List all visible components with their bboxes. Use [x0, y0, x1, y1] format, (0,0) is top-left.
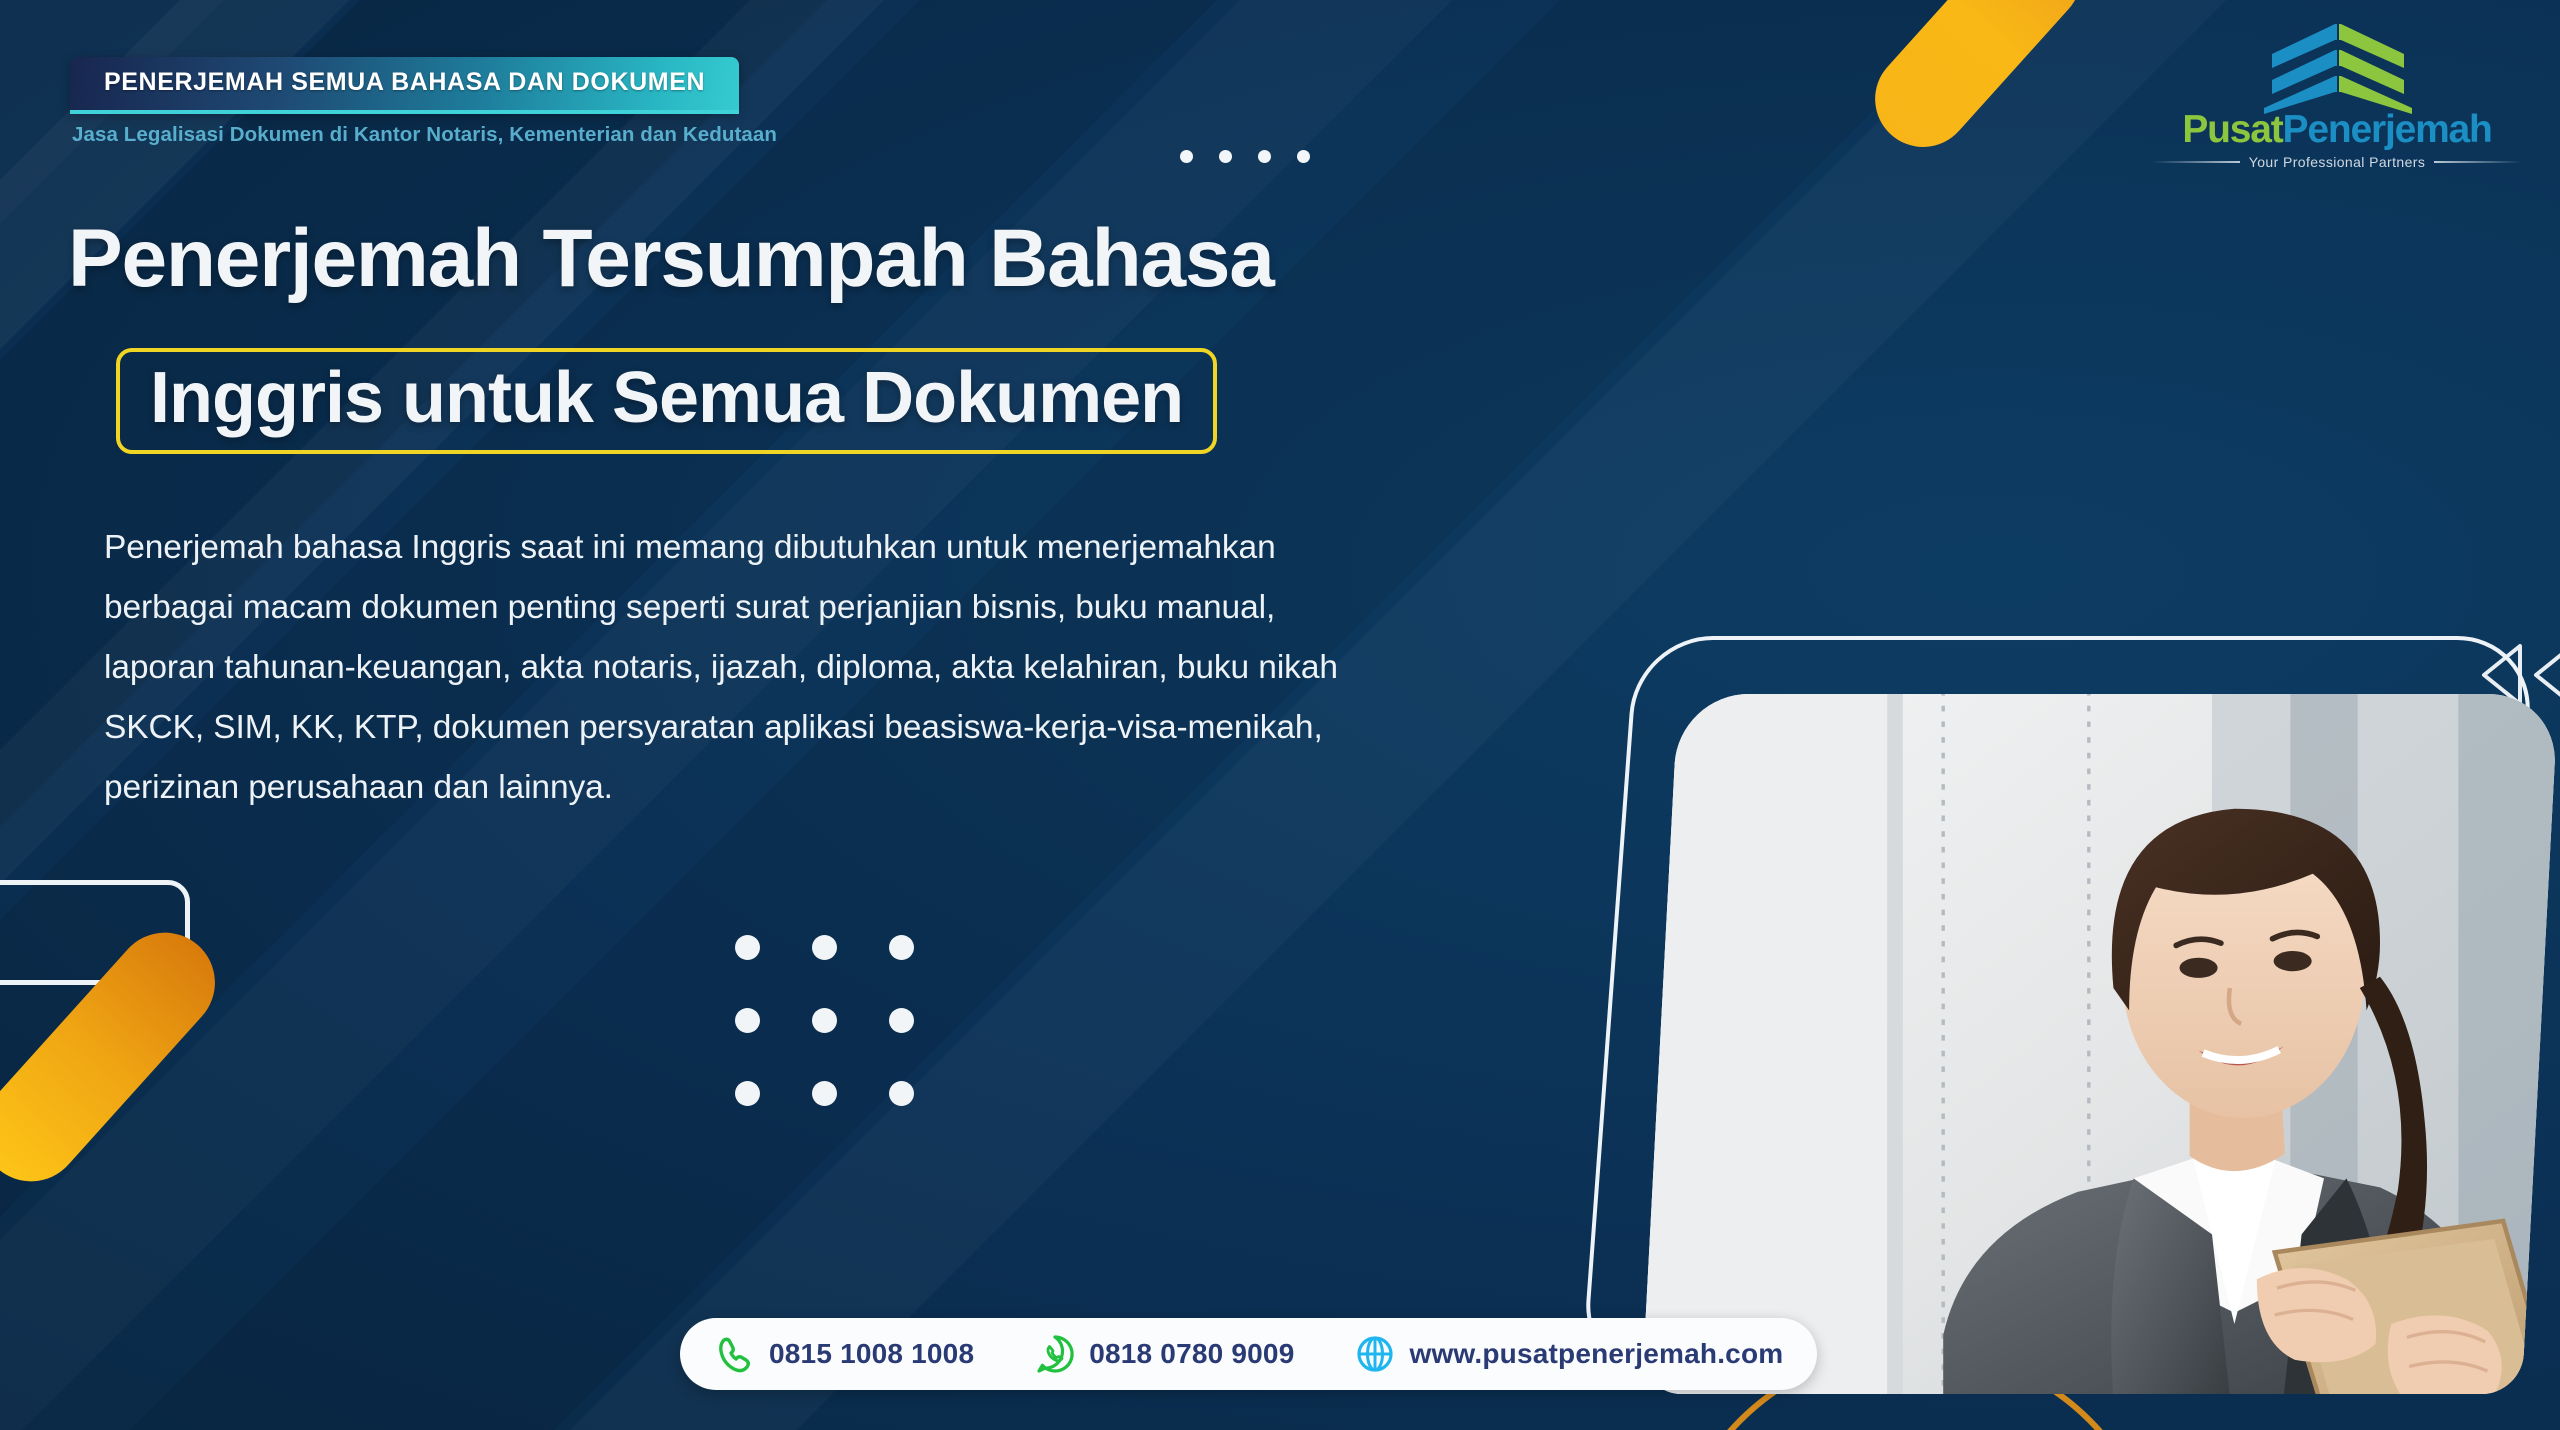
headline-line-1: Penerjemah Tersumpah Bahasa	[68, 218, 1274, 300]
contact-item-website[interactable]: www.pusatpenerjemah.com	[1354, 1333, 1783, 1375]
logo-wordmark: PusatPenerjemah	[2152, 110, 2522, 149]
dot	[812, 1081, 837, 1106]
dot	[1297, 150, 1310, 163]
dot	[812, 1008, 837, 1033]
logo-rule-right	[2434, 161, 2522, 163]
logo-tagline: Your Professional Partners	[2249, 154, 2425, 170]
contact-website-url: www.pusatpenerjemah.com	[1409, 1338, 1783, 1370]
dot-grid-decoration	[735, 935, 914, 1106]
photo-image	[1642, 694, 2559, 1394]
dot	[1258, 150, 1271, 163]
dot	[889, 1081, 914, 1106]
contact-whatsapp-number: 0818 0780 9009	[1089, 1338, 1294, 1370]
eyebrow-badge-subtitle: Jasa Legalisasi Dokumen di Kantor Notari…	[72, 123, 850, 147]
dot	[1180, 150, 1193, 163]
dot	[735, 935, 760, 960]
poster-canvas: PENERJEMAH SEMUA BAHASA DAN DOKUMEN Jasa…	[0, 0, 2560, 1430]
body-paragraph: Penerjemah bahasa Inggris saat ini meman…	[104, 518, 1784, 818]
logo-word-penerjemah: Penerjemah	[2283, 108, 2492, 151]
dot	[889, 1008, 914, 1033]
dot	[735, 1081, 760, 1106]
dot	[889, 935, 914, 960]
logo-rule-left	[2152, 161, 2240, 163]
headline-highlight-box: Inggris untuk Semua Dokumen	[116, 348, 1217, 454]
headline-line-2: Inggris untuk Semua Dokumen	[150, 362, 1183, 434]
businesswoman-with-tablet-photo	[1642, 694, 2559, 1394]
eyebrow-badge: PENERJEMAH SEMUA BAHASA DAN DOKUMEN	[70, 57, 739, 114]
contact-item-phone[interactable]: 0815 1008 1008	[714, 1333, 974, 1375]
body-line: Penerjemah bahasa Inggris saat ini meman…	[104, 518, 1784, 578]
contact-phone-number: 0815 1008 1008	[769, 1338, 974, 1370]
globe-icon	[1354, 1333, 1396, 1375]
brand-logo[interactable]: PusatPenerjemah Your Professional Partne…	[2152, 18, 2522, 170]
dots-row-decoration	[1180, 150, 1310, 163]
phone-icon	[714, 1333, 756, 1375]
whatsapp-icon	[1034, 1333, 1076, 1375]
body-line: berbagai macam dokumen penting seperti s…	[104, 578, 1784, 638]
logo-tagline-row: Your Professional Partners	[2152, 154, 2522, 170]
dot	[1219, 150, 1232, 163]
dot	[812, 935, 837, 960]
building-roof-icon	[2152, 18, 2522, 114]
body-line: laporan tahunan-keuangan, akta notaris, …	[104, 638, 1784, 698]
eyebrow-badge-title: PENERJEMAH SEMUA BAHASA DAN DOKUMEN	[104, 68, 705, 97]
logo-word-pusat: Pusat	[2182, 108, 2282, 151]
body-line: SKCK, SIM, KK, KTP, dokumen persyaratan …	[104, 698, 1784, 758]
contact-item-whatsapp[interactable]: 0818 0780 9009	[1034, 1333, 1294, 1375]
contact-bar: 0815 1008 1008 0818 0780 9009 www.pusatp…	[680, 1318, 1817, 1390]
body-line: perizinan perusahaan dan lainnya.	[104, 758, 1784, 818]
eyebrow-badge-group: PENERJEMAH SEMUA BAHASA DAN DOKUMEN Jasa…	[70, 57, 850, 147]
dot	[735, 1008, 760, 1033]
